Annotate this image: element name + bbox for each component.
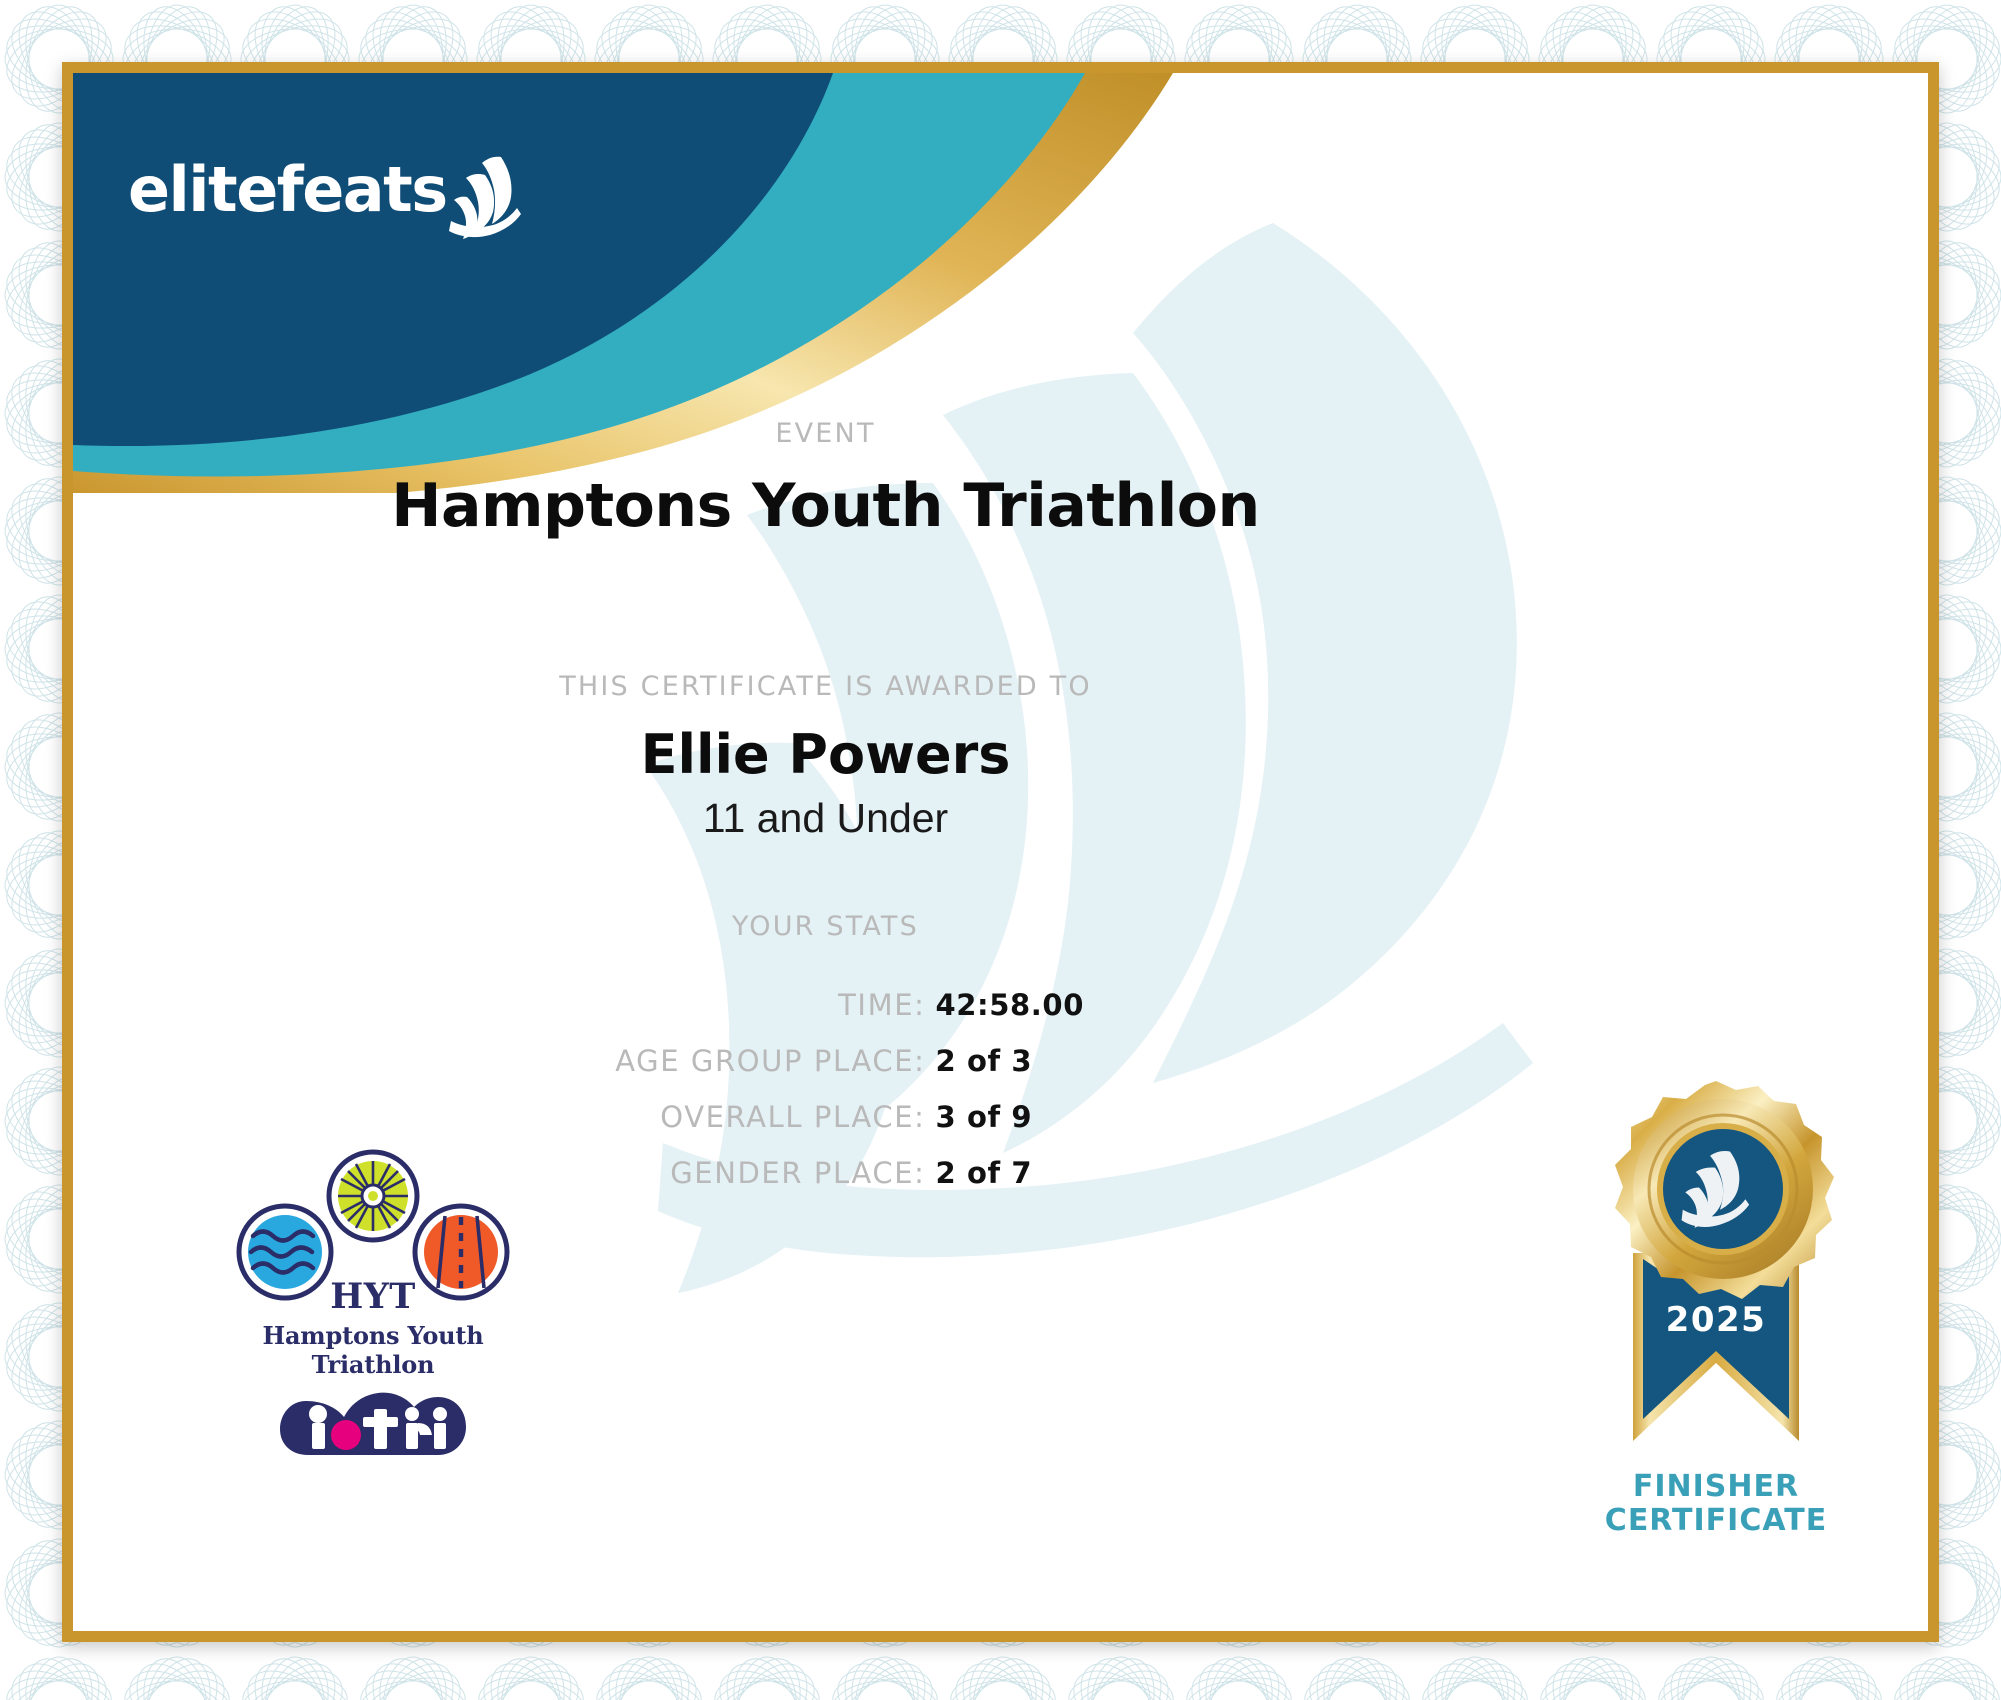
certificate-sheet: elitefeats EVENT Hamptons Youth Triathlo… <box>62 62 1939 1642</box>
stat-row-age-group-place: AGE GROUP PLACE: 2 of 3 <box>73 1044 1578 1078</box>
stat-key: AGE GROUP PLACE: <box>536 1044 926 1078</box>
stat-row-time: TIME: 42:58.00 <box>73 988 1578 1022</box>
stat-value: 42:58.00 <box>936 988 1116 1022</box>
stat-key: OVERALL PLACE: <box>536 1100 926 1134</box>
winged-foot-icon <box>449 155 523 239</box>
run-road-icon <box>415 1206 507 1298</box>
recipient-name: Ellie Powers <box>73 723 1578 786</box>
stat-key: GENDER PLACE: <box>536 1156 926 1190</box>
stat-value: 2 of 3 <box>936 1044 1116 1078</box>
hyt-full-name: Hamptons Youth Triathlon <box>223 1321 523 1379</box>
your-stats-label: YOUR STATS <box>73 911 1578 942</box>
itri-dot-icon <box>331 1420 361 1450</box>
hyt-discipline-circles <box>223 1148 523 1318</box>
itri-partner-logo <box>278 1385 468 1457</box>
brand-wordmark: elitefeats <box>128 159 447 221</box>
bike-wheel-icon <box>329 1152 417 1240</box>
event-logo: HYT Hamptons Youth Triathlon <box>223 1148 523 1462</box>
event-name: Hamptons Youth Triathlon <box>73 471 1578 541</box>
stat-value: 2 of 7 <box>936 1156 1116 1190</box>
event-label: EVENT <box>73 418 1578 449</box>
seal-caption-line2: CERTIFICATE <box>1551 1504 1881 1538</box>
finisher-seal: 2025 <box>1551 1063 1881 1537</box>
awarded-to-label: THIS CERTIFICATE IS AWARDED TO <box>73 671 1578 702</box>
stat-key: TIME: <box>536 988 926 1022</box>
stat-value: 3 of 9 <box>936 1100 1116 1134</box>
seal-year: 2025 <box>1666 1300 1767 1340</box>
swim-waves-icon <box>239 1206 331 1298</box>
stat-row-overall-place: OVERALL PLACE: 3 of 9 <box>73 1100 1578 1134</box>
brand-logo: elitefeats <box>128 141 523 239</box>
division-label: 11 and Under <box>73 795 1578 842</box>
